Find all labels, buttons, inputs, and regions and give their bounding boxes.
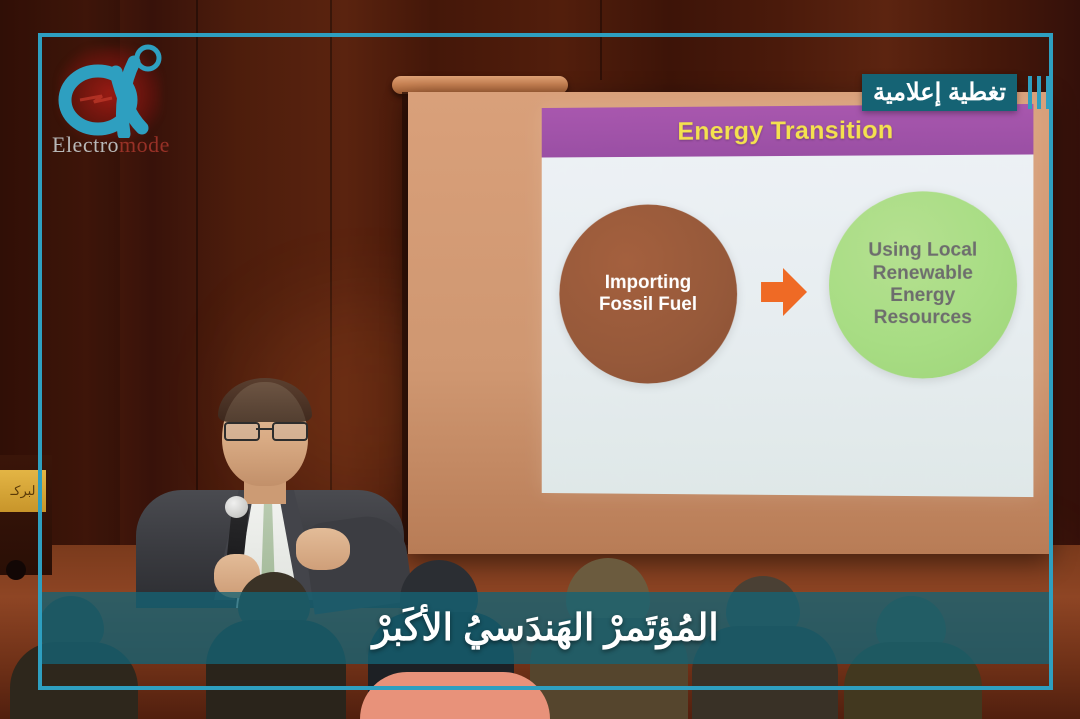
renewable-line-2: Renewable xyxy=(868,262,977,285)
conference-photo-card: لبركـ Energy Transition Importing Fossil… xyxy=(0,0,1080,719)
bottom-title-banner: المُؤتَمرْ الهَندَسيُ الأكَبرْ xyxy=(42,592,1049,664)
logo-wordmark: Electromode xyxy=(52,132,170,158)
microphone-head xyxy=(225,496,248,518)
renewable-line-4: Resources xyxy=(868,307,977,330)
audience-body xyxy=(360,672,550,719)
speaker-glasses xyxy=(222,422,308,438)
fossil-fuel-circle: Importing Fossil Fuel xyxy=(559,204,737,384)
podium-knob xyxy=(6,560,26,580)
fossil-fuel-line-1: Importing xyxy=(599,272,697,294)
slide-body: Importing Fossil Fuel Using Local Renewa… xyxy=(542,154,1034,497)
slide-title-band: Energy Transition xyxy=(542,104,1034,158)
brand-logo: Electromode xyxy=(46,42,196,160)
speaker-hair xyxy=(218,378,312,422)
logo-word-primary: Electro xyxy=(52,132,119,157)
podium-sign: لبركـ xyxy=(0,470,46,512)
media-coverage-badge: تغطية إعلامية xyxy=(862,74,1017,111)
accent-bar xyxy=(1037,76,1041,109)
badge-accent-bars xyxy=(1028,76,1050,109)
podium-sign-text: لبركـ xyxy=(10,483,35,499)
accent-bar xyxy=(1028,76,1032,109)
right-arrow-icon xyxy=(761,268,807,316)
renewable-energy-circle: Using Local Renewable Energy Resources xyxy=(829,191,1017,379)
speaker-gesturing-hand xyxy=(296,528,350,570)
fossil-fuel-line-2: Fossil Fuel xyxy=(599,294,697,316)
logo-word-secondary: mode xyxy=(119,132,170,157)
slide-footer xyxy=(542,479,1034,483)
renewable-line-1: Using Local xyxy=(868,240,977,263)
renewable-line-3: Energy xyxy=(868,285,977,308)
media-coverage-label: تغطية إعلامية xyxy=(873,81,1006,105)
ai-monogram-icon xyxy=(50,42,180,138)
wall-seam xyxy=(600,0,602,80)
banner-title: المُؤتَمرْ الهَندَسيُ الأكَبرْ xyxy=(372,608,718,649)
accent-bar xyxy=(1046,76,1050,109)
slide-title: Energy Transition xyxy=(677,116,893,147)
presentation-slide: Energy Transition Importing Fossil Fuel … xyxy=(542,104,1034,497)
